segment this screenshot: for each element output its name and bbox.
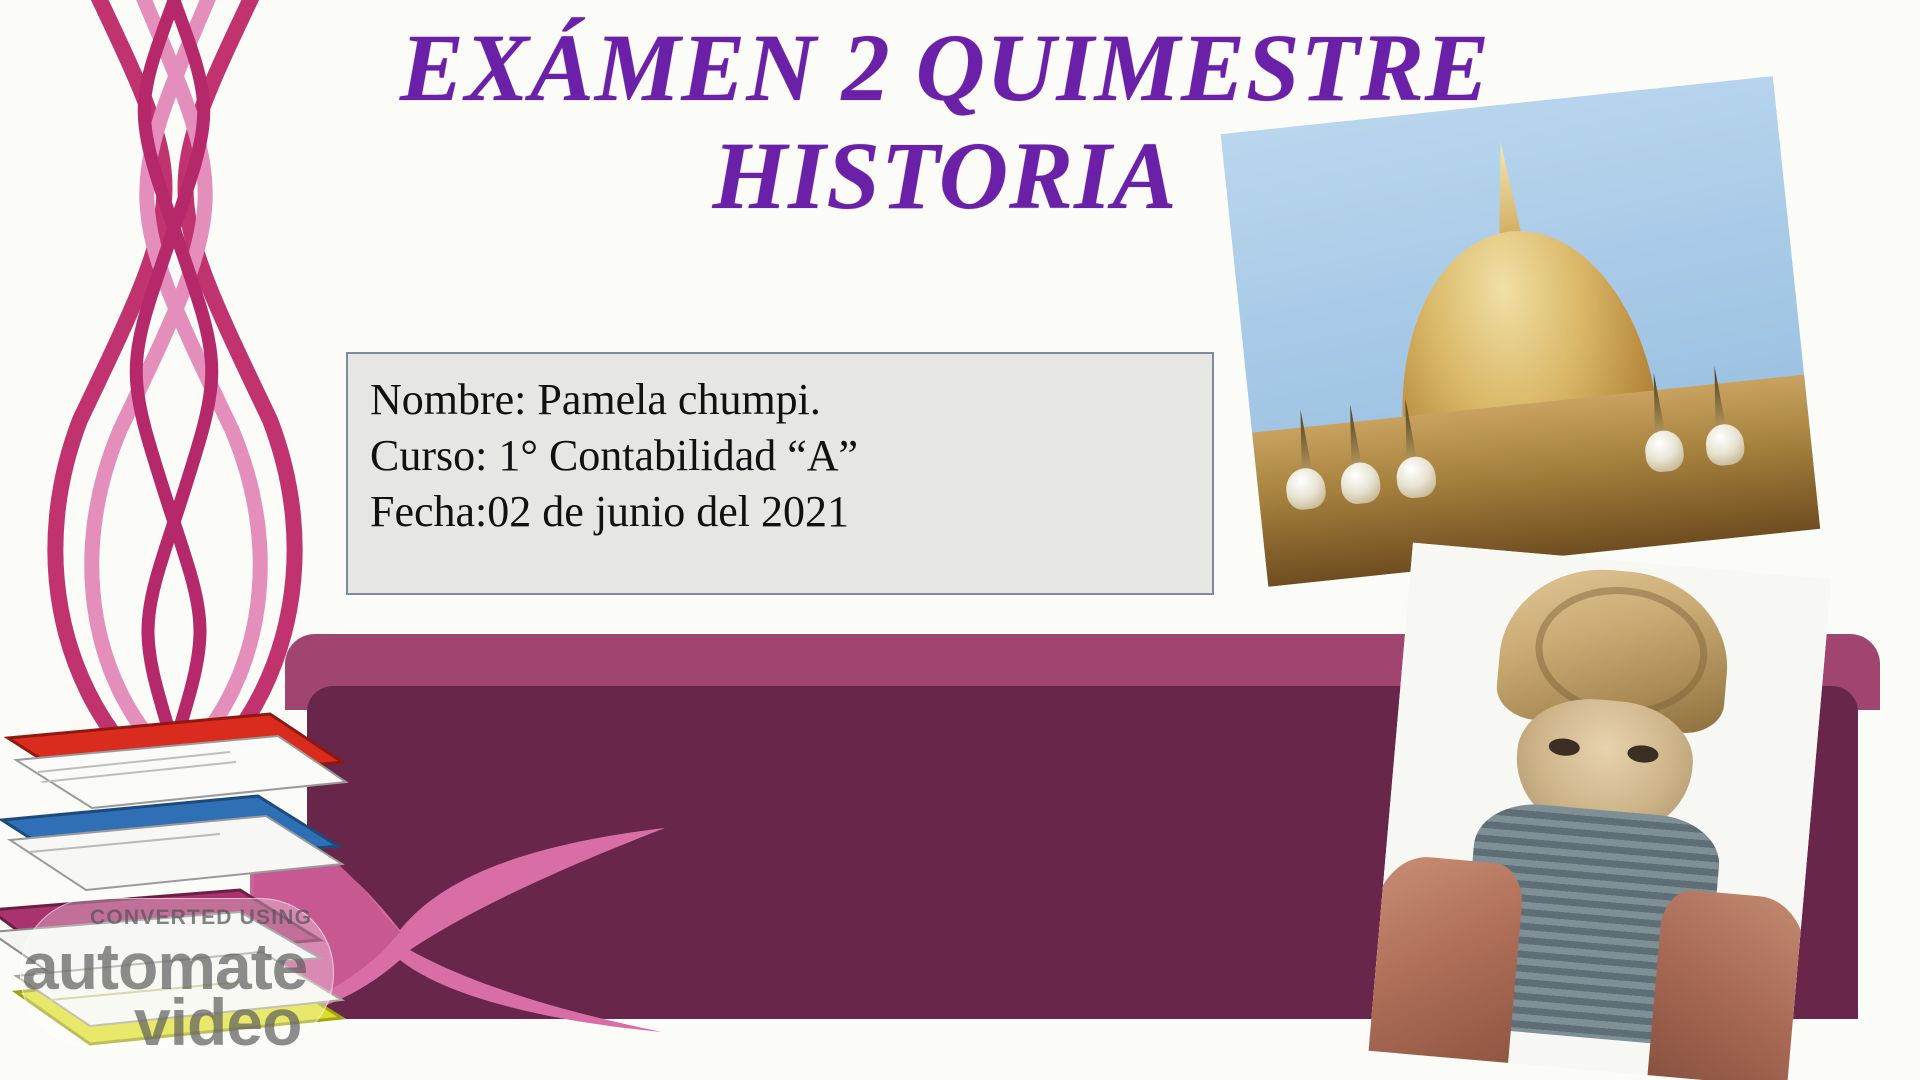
watermark-line-converted-using: CONVERTED USING: [90, 906, 312, 930]
info-line-fecha: Fecha:02 de junio del 2021: [370, 484, 1190, 540]
info-line-curso: Curso: 1° Contabilidad “A”: [370, 428, 1190, 484]
golden-pagoda-photo: [1221, 76, 1821, 587]
statue-shoulder-right: [1647, 888, 1813, 1080]
info-line-nombre: Nombre: Pamela chumpi.: [370, 372, 1190, 428]
automate-video-watermark: CONVERTED USING automate video: [12, 880, 342, 1060]
title-line-1: EXÁMEN 2 QUIMESTRE: [300, 14, 1590, 122]
mesopotamian-statue-photo: [1369, 543, 1832, 1080]
watermark-line-video: video: [134, 984, 301, 1060]
student-info-box: Nombre: Pamela chumpi. Curso: 1° Contabi…: [346, 352, 1214, 595]
pink-ribbon-decoration: [40, 0, 310, 760]
statue-photo-card: [1369, 543, 1832, 1080]
presentation-slide: EXÁMEN 2 QUIMESTRE HISTORIA Nombre: Pame…: [0, 0, 1920, 1080]
statue-shoulder-left: [1369, 853, 1525, 1073]
